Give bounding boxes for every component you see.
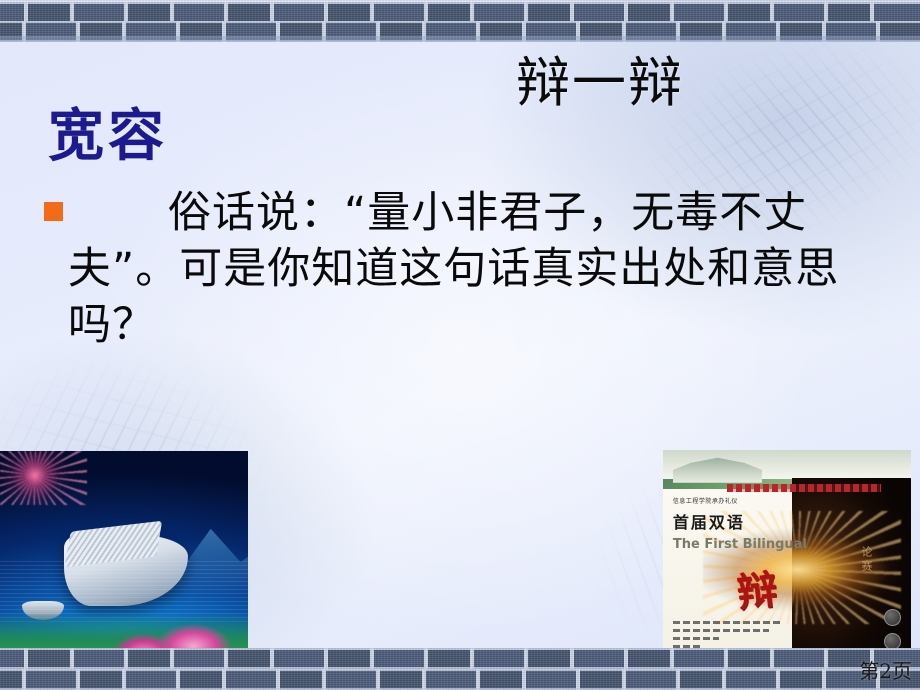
presentation-slide: 辩一辩 宽容 俗话说：“量小非君子，无毒不丈夫”。可是你知道这句话真实出处和意思… bbox=[0, 0, 920, 690]
underwater-boat-image bbox=[0, 451, 248, 660]
body-paragraph: 俗话说：“量小非君子，无毒不丈夫”。可是你知道这句话真实出处和意思吗？ bbox=[40, 186, 870, 354]
poster-footer-line bbox=[673, 621, 782, 624]
brick-border-bottom bbox=[0, 648, 920, 690]
brick-row bbox=[0, 669, 920, 690]
fireworks-icon bbox=[0, 451, 87, 505]
poster-footer-line bbox=[673, 629, 769, 632]
brick-row bbox=[0, 648, 920, 669]
orange-square-bullet-icon bbox=[44, 202, 63, 221]
poster-headline-english: The First Bilingual bbox=[673, 537, 807, 552]
poster-red-character: 辩 bbox=[735, 570, 776, 614]
poster-red-banner bbox=[727, 484, 881, 492]
poster-vertical-text: 论赛 bbox=[858, 546, 874, 574]
debate-poster-image: 信息工程学院承办礼仪 首届双语 The First Bilingual 辩 论赛 bbox=[663, 450, 911, 668]
poster-footer-line bbox=[673, 637, 719, 640]
poster-headline-chinese: 首届双语 bbox=[673, 509, 745, 533]
water-reflection bbox=[0, 560, 248, 623]
brick-row bbox=[0, 21, 920, 42]
page-number-indicator: 第2页 bbox=[859, 655, 912, 684]
brick-border-top bbox=[0, 0, 920, 42]
page-title: 宽容 bbox=[48, 108, 168, 164]
body-text-block: 俗话说：“量小非君子，无毒不丈夫”。可是你知道这句话真实出处和意思吗？ bbox=[40, 186, 870, 354]
topic-heading: 辩一辩 bbox=[516, 56, 684, 110]
brick-row bbox=[0, 2, 920, 23]
poster-subline-text: 信息工程学院承办礼仪 bbox=[673, 496, 738, 505]
